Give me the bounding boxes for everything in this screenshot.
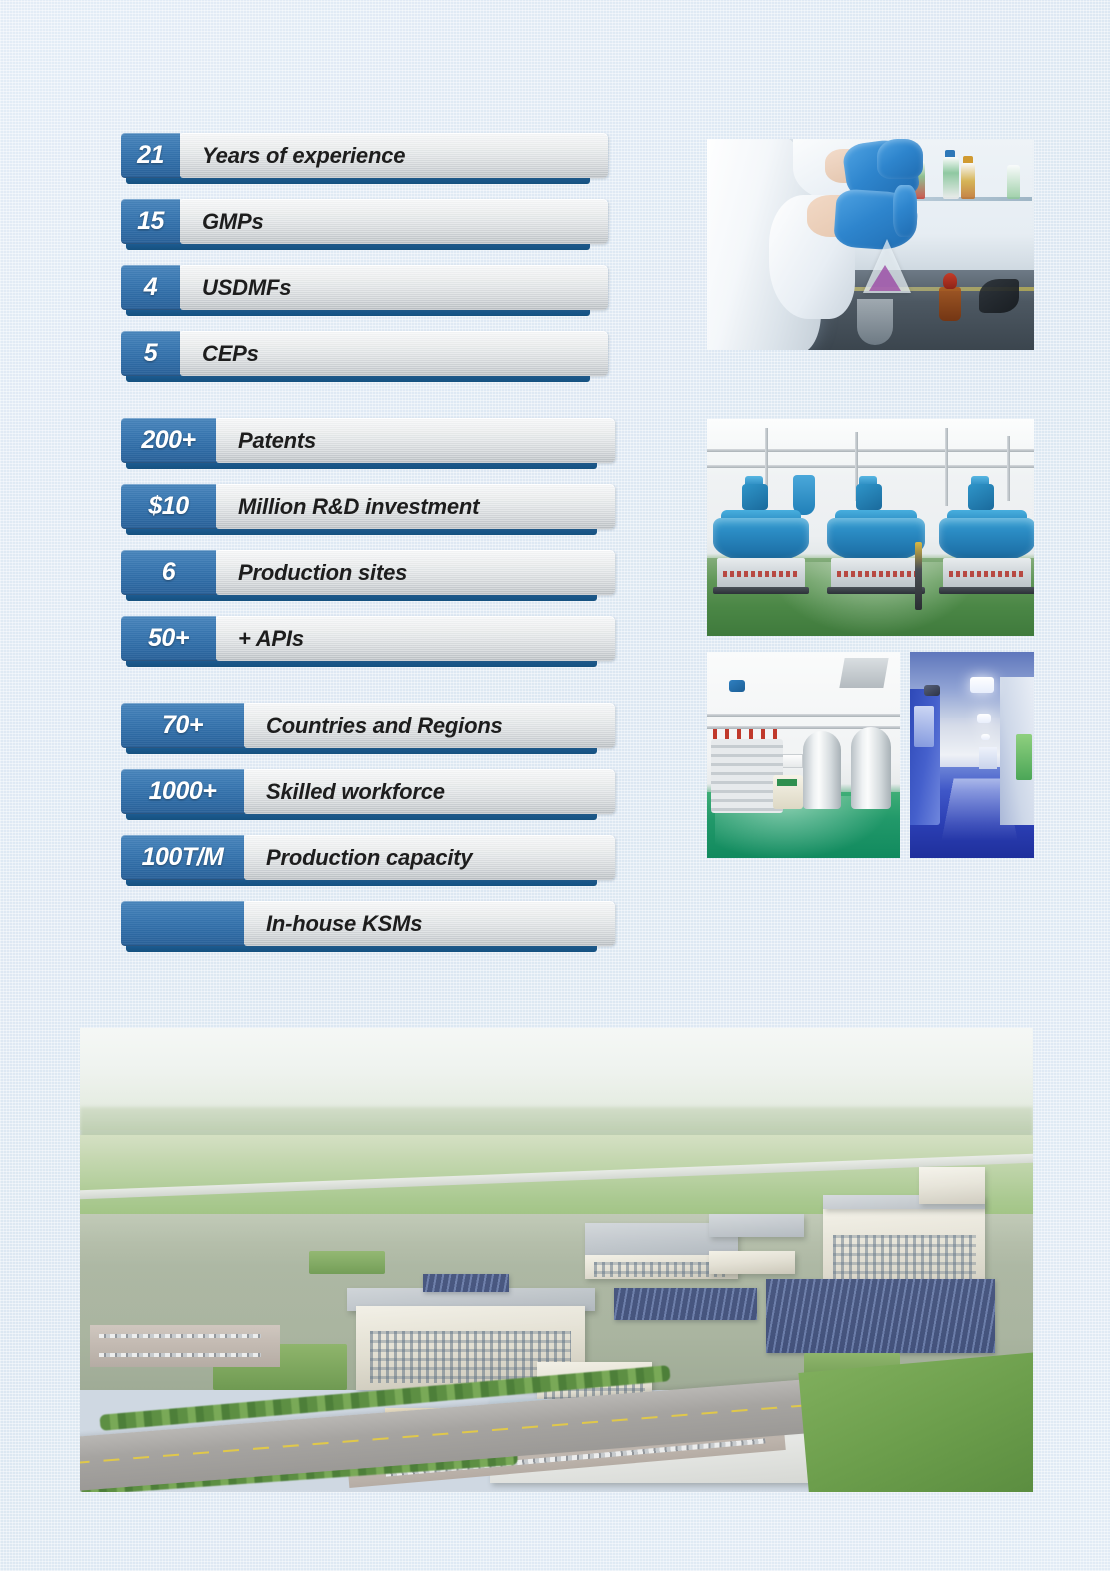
stainless-storage-tank bbox=[851, 727, 891, 809]
reactor-workshop-photo bbox=[707, 419, 1034, 636]
bottle-cap bbox=[963, 156, 973, 163]
stat-row[interactable]: 21 Years of experience bbox=[121, 133, 608, 178]
utility-block bbox=[919, 1167, 986, 1204]
stat-row[interactable]: 1000+ Skilled workforce bbox=[121, 769, 615, 814]
agitator-motor bbox=[968, 484, 994, 510]
stat-label: Million R&D investment bbox=[216, 484, 615, 529]
cleanroom-corridor-photo bbox=[910, 652, 1034, 858]
overhead-pipe bbox=[707, 714, 900, 717]
aerial-campus-photo bbox=[80, 1028, 1033, 1492]
reagent-bottle bbox=[943, 157, 959, 199]
stat-row[interactable]: In-house KSMs bbox=[121, 901, 615, 946]
flask-liquid bbox=[869, 265, 901, 291]
wall-panel bbox=[1016, 734, 1032, 779]
ventilation-duct bbox=[839, 658, 888, 688]
stat-row[interactable]: 100T/M Production capacity bbox=[121, 835, 615, 880]
stat-value: 100T/M bbox=[121, 835, 244, 880]
stat-label: Production sites bbox=[216, 550, 615, 595]
stat-value bbox=[121, 901, 244, 946]
ceiling-light bbox=[981, 734, 990, 740]
stat-label: Countries and Regions bbox=[244, 703, 615, 748]
stat-row[interactable]: 70+ Countries and Regions bbox=[121, 703, 615, 748]
equipment-id-text bbox=[723, 571, 800, 577]
stat-value: 70+ bbox=[121, 703, 244, 748]
solar-panel-array bbox=[766, 1279, 995, 1353]
agitator-motor bbox=[856, 484, 882, 510]
stat-row[interactable]: 50+ + APIs bbox=[121, 616, 615, 661]
stat-label: GMPs bbox=[180, 199, 608, 244]
tote-label bbox=[777, 779, 797, 786]
stat-row[interactable]: 5 CEPs bbox=[121, 331, 608, 376]
glass-lined-reactor bbox=[939, 466, 1034, 588]
stat-label: Patents bbox=[216, 418, 615, 463]
stat-label: Production capacity bbox=[244, 835, 615, 880]
reactor-vessel bbox=[939, 518, 1034, 562]
reactor-base bbox=[827, 587, 925, 594]
stat-value: 21 bbox=[121, 133, 180, 178]
reactor-vessel bbox=[713, 518, 809, 562]
plant-building bbox=[709, 1214, 804, 1237]
equipment-id-text bbox=[837, 571, 915, 577]
stat-label: Years of experience bbox=[180, 133, 608, 178]
beaker bbox=[857, 299, 893, 345]
stat-row[interactable]: 4 USDMFs bbox=[121, 265, 608, 310]
equipment-id-text bbox=[949, 571, 1026, 577]
laboratory-photo bbox=[707, 139, 1034, 350]
statistics-panel: 21 Years of experience 15 GMPs 4 USDMFs … bbox=[121, 133, 621, 946]
pump-motor bbox=[729, 680, 745, 692]
dropper-bottle bbox=[939, 287, 961, 321]
stat-row[interactable]: 6 Production sites bbox=[121, 550, 615, 595]
stat-value: 4 bbox=[121, 265, 180, 310]
corridor-end-wall bbox=[979, 747, 997, 769]
lab-clamp bbox=[979, 279, 1019, 313]
lawn-area bbox=[309, 1251, 385, 1274]
stat-value: 1000+ bbox=[121, 769, 244, 814]
reactor-base bbox=[939, 587, 1034, 594]
stat-label: CEPs bbox=[180, 331, 608, 376]
stat-value: 5 bbox=[121, 331, 180, 376]
parked-cars-row bbox=[99, 1334, 261, 1338]
gloved-hand bbox=[877, 139, 923, 179]
parking-lot bbox=[90, 1325, 281, 1367]
gloved-fingers bbox=[893, 185, 917, 237]
stat-label: USDMFs bbox=[180, 265, 608, 310]
ceiling-light bbox=[977, 714, 991, 723]
door-window bbox=[914, 706, 934, 747]
glass-lined-reactor bbox=[713, 468, 809, 588]
stat-label: Skilled workforce bbox=[244, 769, 615, 814]
safety-bollard bbox=[915, 542, 922, 610]
solar-panel-array bbox=[423, 1274, 509, 1293]
stat-value: 15 bbox=[121, 199, 180, 244]
dropper-bulb bbox=[943, 273, 957, 289]
stat-group-capability: 200+ Patents $10 Million R&D investment … bbox=[121, 418, 621, 661]
stat-row[interactable]: $10 Million R&D investment bbox=[121, 484, 615, 529]
plant-building bbox=[709, 1251, 795, 1274]
stat-group-scale: 70+ Countries and Regions 1000+ Skilled … bbox=[121, 703, 621, 946]
bottle-cap bbox=[945, 150, 955, 157]
stat-label: In-house KSMs bbox=[244, 901, 615, 946]
parked-cars-row bbox=[99, 1353, 261, 1357]
ceiling-light bbox=[970, 677, 994, 693]
reagent-bottle bbox=[1007, 165, 1020, 199]
glass-lined-reactor bbox=[827, 462, 925, 588]
reactor-base bbox=[713, 587, 809, 594]
valve-manifold bbox=[713, 729, 781, 739]
stainless-storage-tank bbox=[803, 731, 841, 809]
stat-row[interactable]: 15 GMPs bbox=[121, 199, 608, 244]
stat-label: + APIs bbox=[216, 616, 615, 661]
stat-row[interactable]: 200+ Patents bbox=[121, 418, 615, 463]
stat-value: 50+ bbox=[121, 616, 216, 661]
stat-group-credentials: 21 Years of experience 15 GMPs 4 USDMFs … bbox=[121, 133, 621, 376]
water-treatment-photo bbox=[707, 652, 900, 858]
security-camera bbox=[924, 685, 940, 696]
reagent-bottle bbox=[961, 163, 975, 199]
agitator-motor bbox=[742, 484, 768, 510]
crop-field bbox=[799, 1352, 1033, 1492]
wall-sign bbox=[781, 754, 803, 768]
stat-value: 200+ bbox=[121, 418, 216, 463]
stat-value: $10 bbox=[121, 484, 216, 529]
reactor-vessel bbox=[827, 518, 925, 562]
stat-value: 6 bbox=[121, 550, 216, 595]
overhead-pipe bbox=[707, 449, 1034, 452]
solar-panel-array bbox=[614, 1288, 757, 1320]
